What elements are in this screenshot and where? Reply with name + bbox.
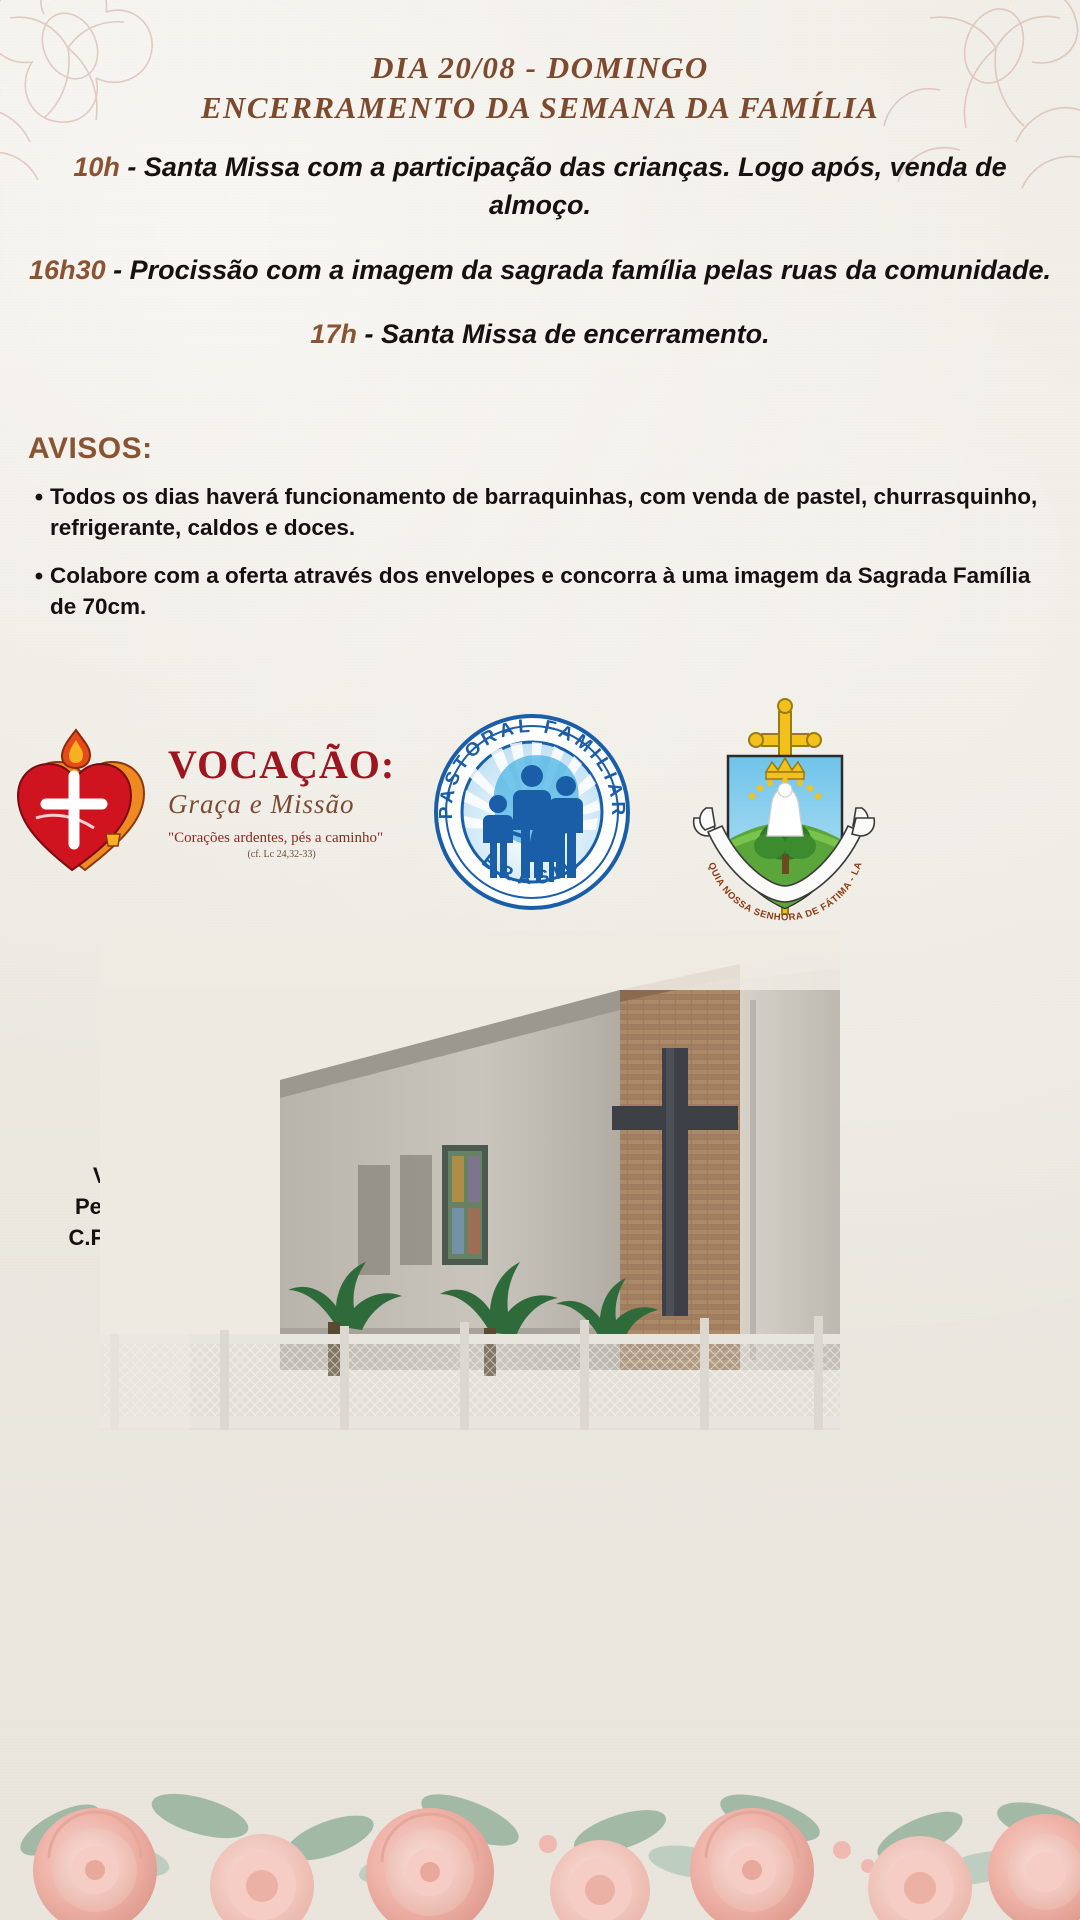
schedule-dash: - bbox=[120, 152, 144, 182]
vocacao-reference: (cf. Lc 24,32-33) bbox=[168, 849, 395, 860]
avisos-section: AVISOS: • Todos os dias haverá funcionam… bbox=[28, 432, 1046, 640]
header-line-1: DIA 20/08 - DOMINGO bbox=[0, 48, 1080, 88]
schedule-time: 17h bbox=[310, 319, 357, 349]
schedule-dash: - bbox=[106, 255, 130, 285]
schedule-dash: - bbox=[357, 319, 381, 349]
schedule-text: Santa Missa de encerramento. bbox=[381, 319, 770, 349]
logo-strip: VOCAÇÃO: Graça e Missão "Corações ardent… bbox=[0, 690, 1080, 950]
parish-coat-of-arms-logo: PARÓQUIA NOSSA SENHORA DE FÁTIMA - LAVRA… bbox=[690, 690, 880, 955]
sacred-heart-flame-icon bbox=[10, 722, 160, 882]
schedule-item: 17h - Santa Missa de encerramento. bbox=[26, 315, 1054, 353]
schedule-item: 10h - Santa Missa com a participação das… bbox=[26, 148, 1054, 225]
vocacao-title: VOCAÇÃO: bbox=[168, 745, 395, 785]
header-line-2: ENCERRAMENTO DA SEMANA DA FAMÍLIA bbox=[0, 88, 1080, 128]
church-photo bbox=[100, 930, 840, 1430]
rose-border-decoration bbox=[0, 1720, 1080, 1920]
vocacao-subtitle: Graça e Missão bbox=[168, 789, 395, 820]
bullet-icon: • bbox=[28, 561, 50, 593]
schedule-time: 16h30 bbox=[29, 255, 106, 285]
schedule-time: 10h bbox=[73, 152, 120, 182]
pastoral-familiar-seal-icon: PASTORAL FAMILIAR BRASIL bbox=[432, 712, 632, 912]
schedule-list: 10h - Santa Missa com a participação das… bbox=[26, 148, 1054, 379]
vocacao-logo: VOCAÇÃO: Graça e Missão "Corações ardent… bbox=[10, 722, 395, 882]
aviso-text: Colabore com a oferta através dos envelo… bbox=[50, 561, 1046, 622]
pastoral-familiar-logo: PASTORAL FAMILIAR BRASIL bbox=[432, 712, 632, 917]
schedule-text: Procissão com a imagem da sagrada famíli… bbox=[130, 255, 1051, 285]
schedule-text: Santa Missa com a participação das crian… bbox=[144, 152, 1007, 220]
schedule-item: 16h30 - Procissão com a imagem da sagrad… bbox=[26, 251, 1054, 289]
bullet-icon: • bbox=[28, 482, 50, 514]
parish-shield-icon: PARÓQUIA NOSSA SENHORA DE FÁTIMA - LAVRA… bbox=[690, 690, 880, 950]
aviso-text: Todos os dias haverá funcionamento de ba… bbox=[50, 482, 1046, 543]
avisos-title: AVISOS: bbox=[28, 432, 1046, 466]
aviso-list-item: • Colabore com a oferta através dos enve… bbox=[28, 561, 1046, 622]
aviso-list-item: • Todos os dias haverá funcionamento de … bbox=[28, 482, 1046, 543]
vocacao-quote: "Corações ardentes, pés a caminho" bbox=[168, 830, 395, 847]
poster-header: DIA 20/08 - DOMINGO ENCERRAMENTO DA SEMA… bbox=[0, 48, 1080, 127]
vocacao-text-block: VOCAÇÃO: Graça e Missão "Corações ardent… bbox=[168, 745, 395, 860]
